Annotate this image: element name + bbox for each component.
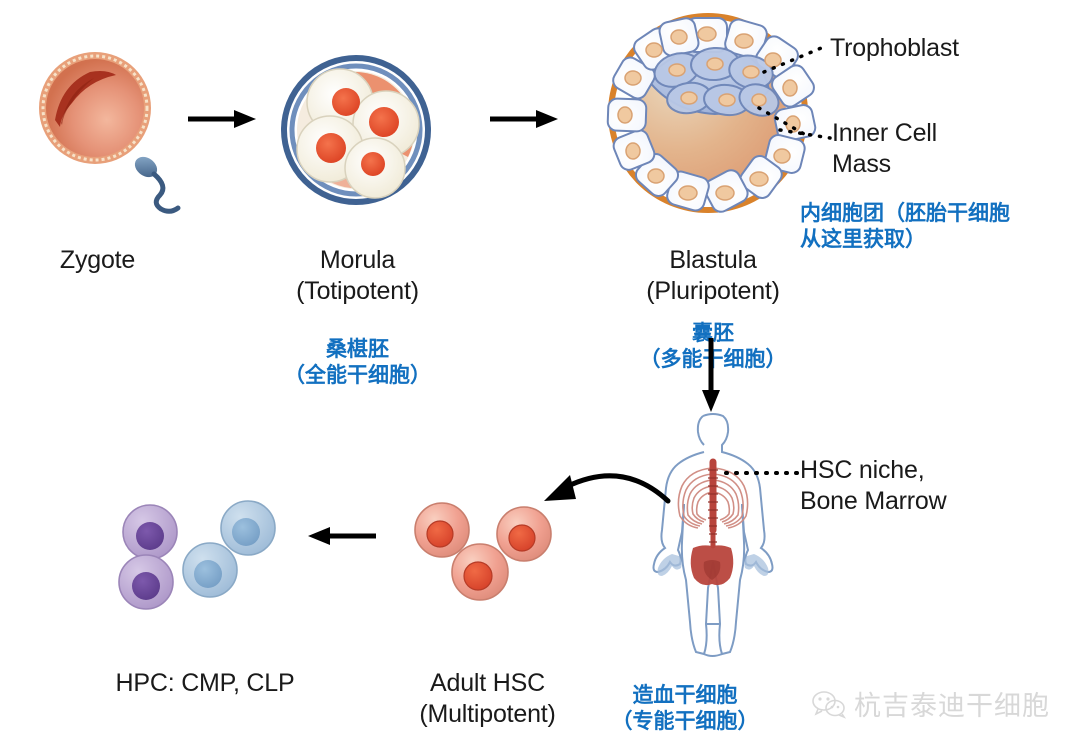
hpc-cells <box>118 498 288 610</box>
morula-illustration <box>278 52 438 212</box>
watermark-text: 杭吉泰迪干细胞 <box>854 684 1050 723</box>
stem-cell-diagram: Zygote <box>0 0 1080 751</box>
wechat-icon <box>812 690 846 718</box>
arrow-zygote-to-morula <box>186 108 258 130</box>
adult-hsc-cells <box>410 498 560 610</box>
inner-cell-mass-callout-label: Inner Cell Mass <box>832 118 1062 180</box>
zygote-illustration <box>28 45 198 220</box>
arrow-morula-to-blastula <box>488 108 560 130</box>
inner-cell-mass-callout-label-cn: 内细胞团（胚胎干细胞 从这里获取） <box>800 200 1076 252</box>
hsc-niche-callout-label: HSC niche, Bone Marrow <box>800 455 1070 517</box>
hsc-niche-leader-line <box>724 466 804 480</box>
adult-hsc-label: Adult HSC (Multipotent) <box>385 668 590 730</box>
morula-label-cn: 桑椹胚 （全能干细胞） <box>250 336 465 388</box>
trophoblast-callout-label: Trophoblast <box>830 33 1080 64</box>
blastula-label: Blastula (Pluripotent) <box>603 245 823 307</box>
arrow-blastula-to-body <box>699 338 723 414</box>
adult-hsc-label-cn: 造血干细胞 （专能干细胞） <box>590 682 780 734</box>
arrow-hsc-to-hpc <box>306 525 378 547</box>
watermark: 杭吉泰迪干细胞 <box>812 684 1050 723</box>
zygote-label: Zygote <box>0 245 195 276</box>
hpc-label: HPC: CMP, CLP <box>55 668 355 699</box>
morula-label: Morula (Totipotent) <box>250 245 465 307</box>
